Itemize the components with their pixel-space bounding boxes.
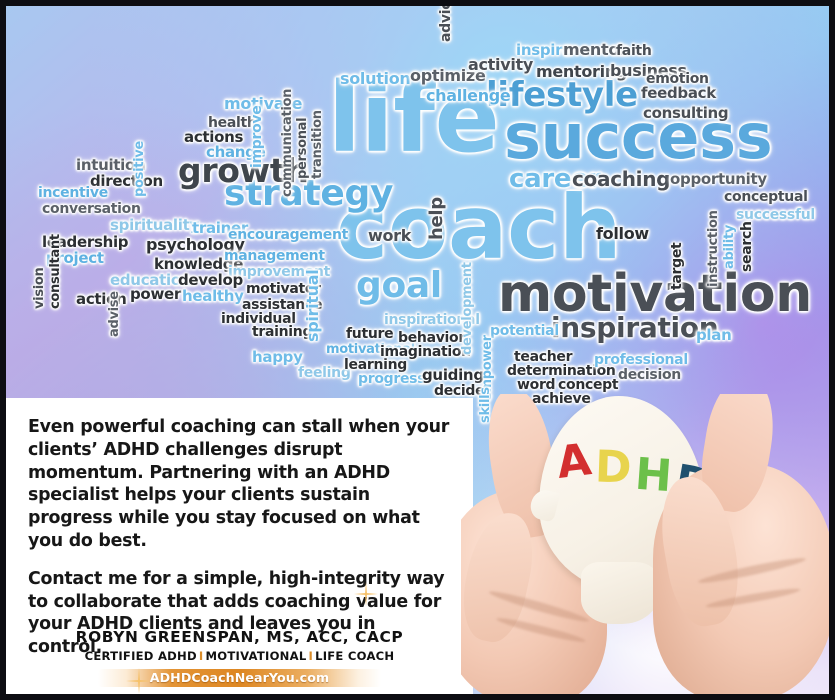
cloud-word: conversation bbox=[42, 202, 141, 216]
cloud-word: healthy bbox=[182, 289, 244, 304]
cloud-word: positive bbox=[133, 141, 146, 197]
cloud-word: help bbox=[428, 197, 446, 240]
cloud-word: management bbox=[224, 249, 325, 263]
paragraph-1: Even powerful coaching can stall when yo… bbox=[28, 416, 451, 553]
cloud-word: develop bbox=[178, 273, 243, 288]
credential-life-coach: LIFE COACH bbox=[315, 649, 394, 663]
coach-name: ROBYN GREENSPAN, MS, ACC, CACP bbox=[6, 628, 473, 646]
cloud-word: challenge bbox=[426, 88, 511, 104]
cloud-word: learning bbox=[344, 358, 407, 372]
cloud-word: successful bbox=[736, 208, 815, 222]
cloud-word: advise bbox=[108, 291, 121, 337]
cloud-word: conceptual bbox=[724, 190, 808, 204]
cloud-word: word bbox=[517, 378, 555, 392]
cloud-word: search bbox=[740, 221, 754, 272]
cloud-word: imagination bbox=[380, 345, 471, 359]
cloud-word: improve bbox=[250, 106, 264, 168]
cloud-word: emotion bbox=[646, 72, 709, 86]
cloud-word: goal bbox=[356, 268, 442, 304]
cloud-word: feedback bbox=[641, 86, 716, 101]
hands-holding-paper-head-photo: A D H D bbox=[461, 394, 829, 694]
cloud-word: plan bbox=[696, 328, 731, 343]
credential-certified-adhd: CERTIFIED ADHD bbox=[85, 649, 197, 663]
cloud-word: faith bbox=[616, 44, 652, 58]
cloud-word: communication bbox=[281, 89, 294, 197]
cloud-word: guiding bbox=[422, 368, 484, 383]
adhd-letter-d1: D bbox=[594, 445, 632, 490]
right-hand bbox=[631, 394, 829, 694]
credentials-line: CERTIFIED ADHDIMOTIVATIONALILIFE COACH bbox=[6, 649, 473, 663]
cloud-word: ability bbox=[723, 225, 736, 269]
cloud-word: success bbox=[504, 106, 772, 168]
cloud-word: teacher bbox=[514, 350, 572, 364]
cloud-word: transition bbox=[311, 110, 324, 179]
website-url[interactable]: ADHDCoachNearYou.com bbox=[150, 670, 329, 685]
copy-panel-inner: Even powerful coaching can stall when yo… bbox=[6, 398, 473, 659]
poster-root: lifecoachsuccessmotivationstrategylifest… bbox=[0, 0, 835, 700]
cloud-word: potential bbox=[490, 324, 559, 338]
cloud-word: activity bbox=[468, 57, 533, 73]
cloud-word: decision bbox=[618, 368, 681, 382]
cloud-word: concept bbox=[558, 378, 618, 392]
credential-motivational: MOTIVATIONAL bbox=[205, 649, 306, 663]
credential-separator-2: I bbox=[306, 649, 315, 663]
poster-canvas: lifecoachsuccessmotivationstrategylifest… bbox=[6, 6, 829, 694]
cloud-word: spirituality bbox=[110, 218, 199, 233]
cloud-word: development bbox=[461, 262, 474, 355]
cloud-word: coaching bbox=[572, 169, 670, 189]
cloud-word: professional bbox=[594, 353, 688, 367]
cloud-word: work bbox=[368, 228, 411, 244]
cloud-word: progress bbox=[358, 372, 425, 386]
cloud-word: inspiration bbox=[551, 314, 718, 342]
website-url-container[interactable]: ADHDCoachNearYou.com bbox=[98, 667, 381, 689]
cloud-word: personal bbox=[296, 118, 309, 179]
cloud-word: consulting bbox=[643, 106, 728, 121]
cloud-word: encouragement bbox=[228, 228, 348, 242]
cloud-word: vision bbox=[33, 267, 46, 309]
cloud-word: happy bbox=[252, 350, 303, 365]
cloud-word: opportunity bbox=[670, 172, 767, 187]
cloud-word: follow bbox=[596, 226, 649, 242]
word-cloud: lifecoachsuccessmotivationstrategylifest… bbox=[6, 6, 796, 426]
cloud-word: feeling bbox=[298, 366, 351, 380]
cloud-word: solution bbox=[340, 71, 411, 87]
adhd-letter-a: A bbox=[554, 438, 593, 486]
cloud-word: incentive bbox=[38, 186, 108, 200]
cloud-word: target bbox=[670, 243, 684, 290]
cloud-word: spiritual bbox=[305, 270, 321, 342]
cloud-word: power bbox=[130, 287, 181, 302]
cloud-word: future bbox=[346, 327, 393, 341]
signature-block: ROBYN GREENSPAN, MS, ACC, CACP CERTIFIED… bbox=[6, 628, 473, 689]
cloud-word: consultant bbox=[49, 234, 62, 309]
cloud-word: advice bbox=[439, 6, 453, 42]
cloud-word: instruction bbox=[707, 210, 720, 287]
cloud-word: behavior bbox=[398, 331, 465, 345]
